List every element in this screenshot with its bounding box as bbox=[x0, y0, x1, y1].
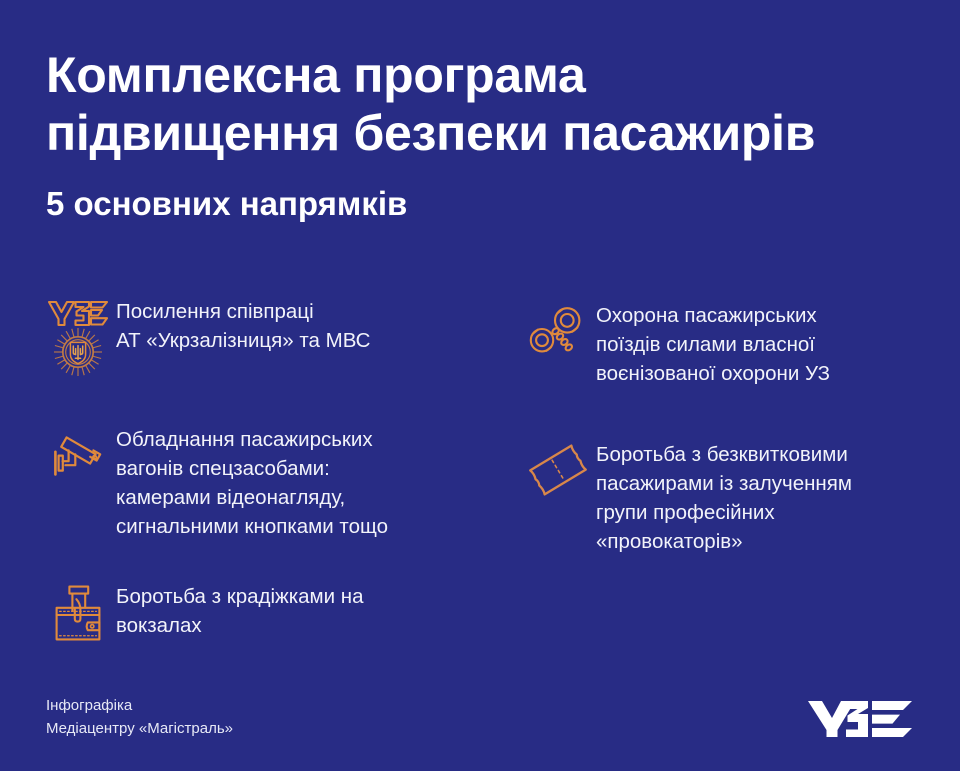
list-item: Обладнання пасажирських вагонів спецзасо… bbox=[40, 424, 460, 541]
list-item-line: вагонів спецзасобами: bbox=[116, 454, 460, 483]
list-item-line: АТ «Укрзалізниця» та МВС bbox=[116, 326, 460, 355]
list-item: Посилення співпраці АТ «Укрзалізниця» та… bbox=[40, 296, 460, 378]
list-item-line: вокзалах bbox=[116, 611, 460, 640]
list-item-line: камерами відеонагляду, bbox=[116, 483, 460, 512]
list-item-line: поїздів силами власної bbox=[596, 330, 940, 359]
list-item: Боротьба з безквитковими пасажирами із з… bbox=[520, 439, 940, 556]
page-title-line-2: підвищення безпеки пасажирів bbox=[46, 104, 926, 162]
list-item-text: Боротьба з безквитковими пасажирами із з… bbox=[596, 439, 940, 556]
uz-logo bbox=[806, 696, 918, 742]
page-subtitle: 5 основних напрямків bbox=[46, 184, 926, 224]
list-item-line: Боротьба з безквитковими bbox=[596, 440, 940, 469]
list-item-text: Боротьба з крадіжками на вокзалах bbox=[116, 581, 460, 640]
ticket-icon bbox=[520, 439, 596, 501]
poster-header: Комплексна програма підвищення безпеки п… bbox=[46, 46, 926, 224]
cctv-camera-icon bbox=[40, 424, 116, 486]
list-item-line: пасажирами із залученням bbox=[596, 469, 940, 498]
wallet-pickpocket-icon bbox=[40, 581, 116, 647]
list-item-line: Боротьба з крадіжками на bbox=[116, 582, 460, 611]
list-item-line: воєнізованої охорони УЗ bbox=[596, 359, 940, 388]
footer-credit-line: Інфографіка bbox=[46, 694, 233, 717]
list-item-text: Обладнання пасажирських вагонів спецзасо… bbox=[116, 424, 460, 541]
list-item-line: Посилення співпраці bbox=[116, 297, 460, 326]
footer-credit-line: Медіацентру «Магістраль» bbox=[46, 717, 233, 740]
list-item-line: Охорона пасажирських bbox=[596, 301, 940, 330]
handcuffs-icon bbox=[520, 300, 596, 366]
list-item-line: сигнальними кнопками тощо bbox=[116, 512, 460, 541]
list-item-line: групи професійних bbox=[596, 498, 940, 527]
list-item-line: «провокаторів» bbox=[596, 527, 940, 556]
list-item: Боротьба з крадіжками на вокзалах bbox=[40, 581, 460, 647]
infographic-poster: Комплексна програма підвищення безпеки п… bbox=[0, 0, 960, 771]
list-item-text: Охорона пасажирських поїздів силами влас… bbox=[596, 300, 940, 388]
list-item-text: Посилення співпраці АТ «Укрзалізниця» та… bbox=[116, 296, 460, 355]
footer-credit: Інфографіка Медіацентру «Магістраль» bbox=[46, 694, 233, 741]
list-item: Охорона пасажирських поїздів силами влас… bbox=[520, 300, 940, 388]
list-item-line: Обладнання пасажирських bbox=[116, 425, 460, 454]
uz-police-emblem-icon bbox=[40, 296, 116, 378]
page-title-line-1: Комплексна програма bbox=[46, 46, 926, 104]
